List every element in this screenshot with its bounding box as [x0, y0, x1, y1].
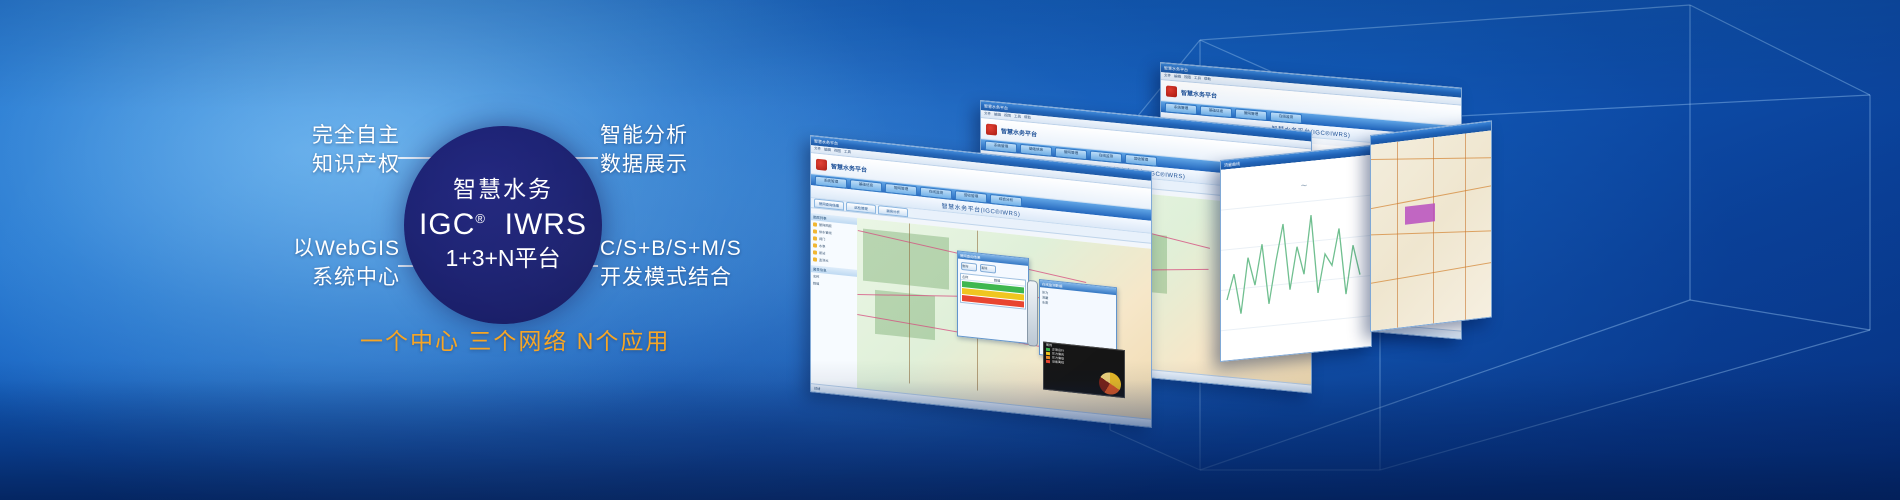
- map-query-popup[interactable]: 管网查询结果 查询 清除 名称 数值: [957, 250, 1029, 344]
- badge-line-2: IGC® IWRS: [419, 208, 587, 243]
- window-title-chart: 流量曲线: [1224, 161, 1240, 169]
- menu-view-mid[interactable]: 视图: [1004, 113, 1011, 119]
- feature-bottom-right-line1: C/S+B/S+M/S: [600, 235, 742, 264]
- company-logo-icon-front: [816, 158, 827, 170]
- menu-view-front[interactable]: 视图: [834, 149, 841, 155]
- feature-top-right: 智能分析 数据展示: [600, 122, 688, 180]
- feature-top-right-line1: 智能分析: [600, 122, 688, 151]
- menu-edit-front[interactable]: 编辑: [824, 147, 831, 153]
- window-body-chart: ～: [1221, 155, 1371, 361]
- app-window-front[interactable]: 智慧水务平台 文件 编辑 视图 工具 智慧水务平台 系统管理 基础信息 管网管理…: [810, 135, 1152, 428]
- svg-text:～: ～: [1301, 182, 1307, 190]
- map-highlight-area: [1405, 203, 1435, 225]
- query-button[interactable]: 查询: [961, 262, 977, 272]
- badge-line-1: 智慧水务: [453, 177, 553, 202]
- feature-top-left-line2: 知识产权: [170, 151, 400, 180]
- window-body-rightmap: [1371, 130, 1491, 330]
- brand-title-front: 智慧水务平台: [831, 161, 867, 174]
- badge-iwrs: IWRS: [505, 208, 587, 241]
- brand-title-mid: 智慧水务平台: [1001, 125, 1037, 137]
- feature-bottom-right-line2: 开发模式结合: [600, 264, 742, 293]
- app-window-chart[interactable]: 流量曲线 ～: [1220, 145, 1372, 362]
- feature-top-left-line1: 完全自主: [170, 122, 400, 151]
- feature-bottom-left: 以WebGIS 系统中心: [170, 235, 400, 293]
- menu-file-mid[interactable]: 文件: [984, 111, 991, 117]
- menu-edit-mid[interactable]: 编辑: [994, 112, 1001, 118]
- menu-tools[interactable]: 工具: [1194, 76, 1201, 82]
- app-window-rightmap[interactable]: [1370, 120, 1492, 332]
- supply-pie-chart: [1099, 371, 1121, 395]
- layer-tree-front[interactable]: 图层列表 管网图层 供水管线 阀门 水表 泵站 监测点 属性信息 名称 数值: [811, 213, 858, 396]
- tab-front-1[interactable]: 巡检管理: [846, 202, 876, 214]
- menu-file[interactable]: 文件: [1164, 73, 1171, 79]
- center-badge: 智慧水务 IGC® IWRS 1+3+N平台: [404, 126, 602, 324]
- company-logo-icon: [1166, 85, 1177, 97]
- feature-top-left: 完全自主 知识产权: [170, 122, 400, 180]
- feature-bottom-right: C/S+B/S+M/S 开发模式结合: [600, 235, 742, 293]
- menu-tools-front[interactable]: 工具: [844, 150, 851, 156]
- badge-line-3: 1+3+N平台: [445, 245, 560, 273]
- menu-file-front[interactable]: 文件: [814, 146, 821, 152]
- menu-help[interactable]: 帮助: [1204, 77, 1211, 83]
- menu-help-mid[interactable]: 帮助: [1024, 115, 1031, 121]
- clear-button[interactable]: 清除: [980, 264, 996, 274]
- badge-registered-icon: ®: [475, 211, 486, 226]
- menu-tools-mid[interactable]: 工具: [1014, 114, 1021, 120]
- feature-bottom-left-line2: 系统中心: [170, 264, 400, 293]
- tagline: 一个中心 三个网络 N个应用: [360, 322, 670, 356]
- company-logo-icon-mid: [986, 123, 997, 135]
- map-canvas-right[interactable]: [1371, 130, 1491, 330]
- feature-bottom-left-line1: 以WebGIS: [170, 235, 400, 264]
- tab-front-2[interactable]: 漏损分析: [878, 205, 908, 217]
- window-body-front: 图层列表 管网图层 供水管线 阀门 水表 泵站 监测点 属性信息 名称 数值: [811, 213, 1151, 427]
- tab-front-0[interactable]: 管网查询结果: [814, 198, 844, 210]
- chart-area-front: ～: [1221, 155, 1371, 361]
- banner-root: 智慧水务平台 文件 编辑 视图 工具 帮助 智慧水务平台 系统管理 基础信息 管…: [0, 0, 1900, 500]
- feature-top-right-line2: 数据展示: [600, 151, 688, 180]
- map-pan-zoom-control[interactable]: [1027, 280, 1038, 347]
- map-legend: 图例 正常运行 压力偏高 压力偏低 设备离线: [1043, 341, 1125, 398]
- menu-view[interactable]: 视图: [1184, 75, 1191, 81]
- badge-igc: IGC: [419, 208, 475, 241]
- menu-edit[interactable]: 编辑: [1174, 74, 1181, 80]
- brand-title-back: 智慧水务平台: [1181, 87, 1217, 99]
- product-screenshots-group: 智慧水务平台 文件 编辑 视图 工具 帮助 智慧水务平台 系统管理 基础信息 管…: [780, 40, 1500, 380]
